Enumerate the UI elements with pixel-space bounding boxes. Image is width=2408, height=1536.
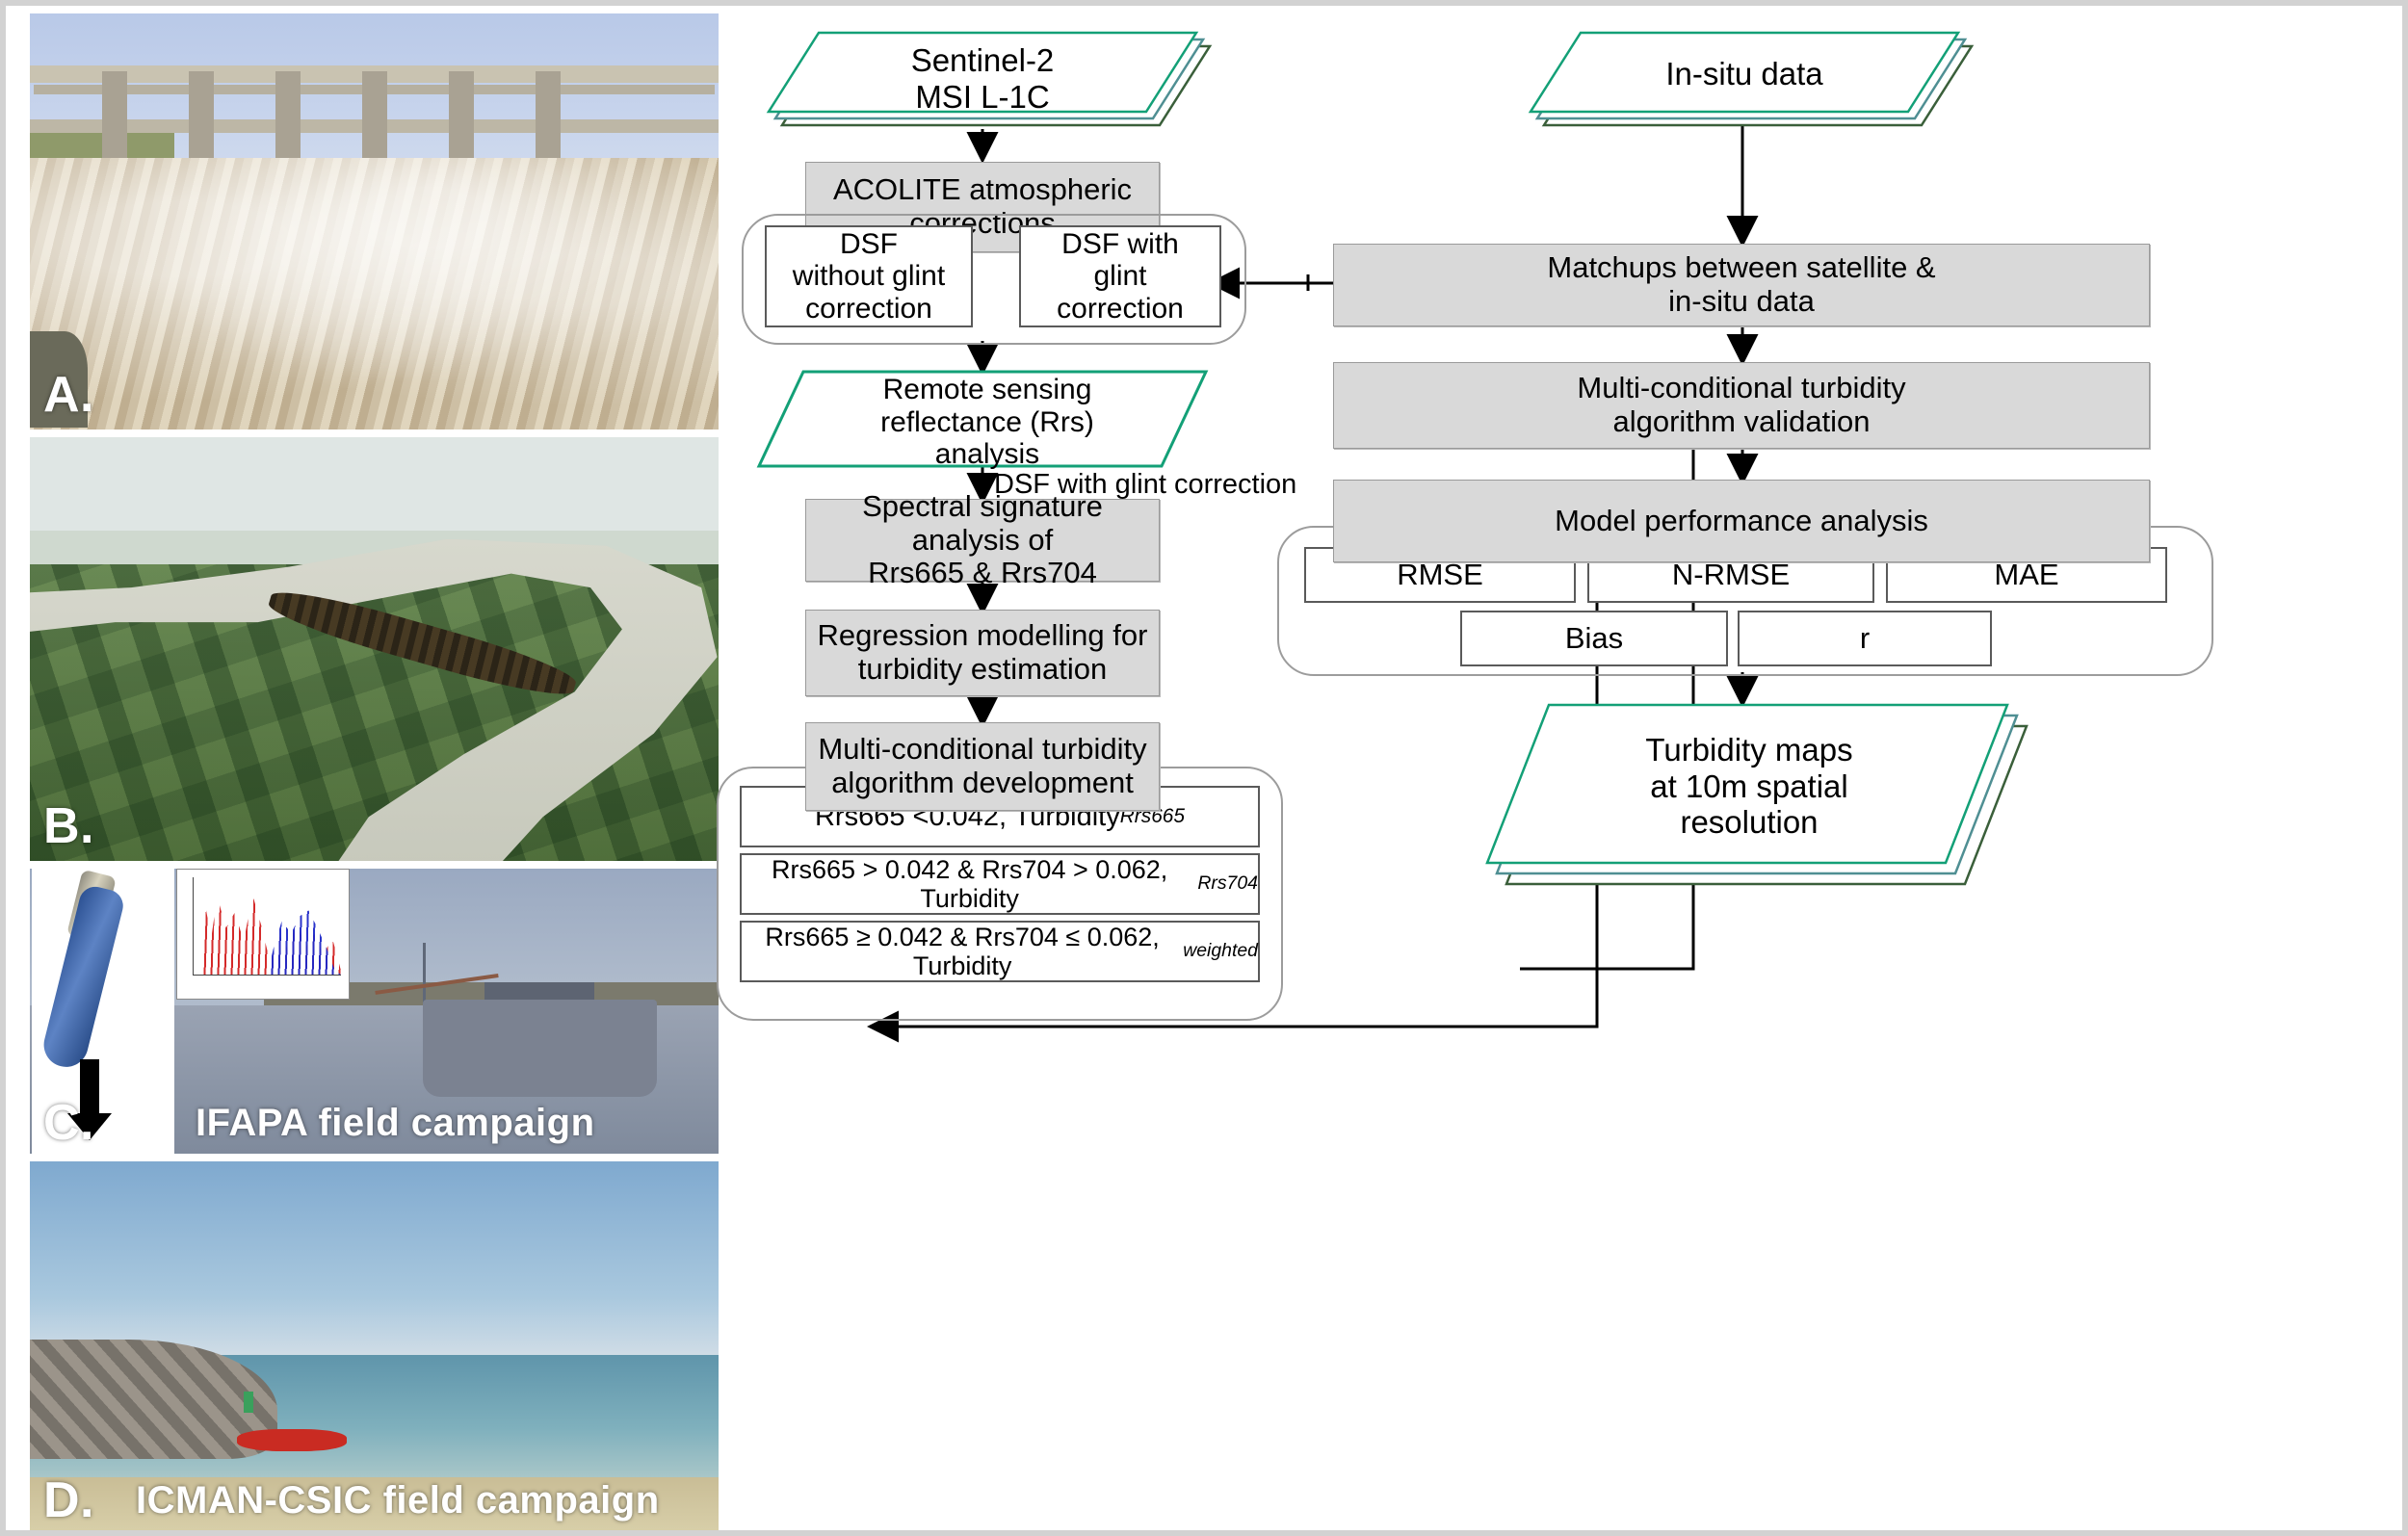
dsf-glint-line-2: glint <box>1093 260 1146 293</box>
photo-panel-column: A. B. C. IFAPA field <box>30 13 719 1533</box>
figure-container: A. B. C. IFAPA field <box>0 0 2408 1536</box>
metric-bias[interactable]: Bias <box>1460 611 1728 666</box>
performance-line-1: Model performance analysis <box>1555 505 1928 538</box>
metric-bias-label: Bias <box>1565 622 1623 656</box>
validation-line-2: algorithm validation <box>1612 405 1870 439</box>
photo-c-caption: IFAPA field campaign <box>196 1104 595 1142</box>
node-remote-sensing-reflectance-analysis[interactable]: Remote sensing reflectance (Rrs) analysi… <box>757 370 1208 468</box>
option-dsf-with-glint-correction[interactable]: DSF with glint correction <box>1019 225 1221 327</box>
sentinel-line-2: MSI L-1C <box>786 79 1179 116</box>
spectral-line-1: Spectral signature analysis of <box>806 490 1159 557</box>
input-insitu-document-stack: In-situ data <box>1523 10 1966 131</box>
acolite-line-1: ACOLITE atmospheric <box>833 173 1132 207</box>
input-sentinel-document-stack: Sentinel-2 MSI L-1C <box>761 10 1204 131</box>
metric-mae-label: MAE <box>1994 559 2058 592</box>
process-multiconditional-algorithm-development[interactable]: Multi-conditional turbidity algorithm de… <box>805 722 1160 811</box>
photo-panel-c: C. IFAPA field campaign <box>30 869 719 1154</box>
metric-r[interactable]: r <box>1738 611 1992 666</box>
workflow-diagram: Sentinel-2 MSI L-1C In-situ data ACOLITE… <box>719 6 2408 1536</box>
process-spectral-signature-analysis[interactable]: Spectral signature analysis of Rrs665 & … <box>805 499 1160 582</box>
rrs-line-3: analysis <box>796 438 1179 471</box>
validation-line-1: Multi-conditional turbidity <box>1577 372 1905 405</box>
dsf-no-glint-line-2: without glint <box>793 260 945 293</box>
option-dsf-without-glint-correction[interactable]: DSF without glint correction <box>765 225 973 327</box>
condition-3-text: Rrs665 ≥ 0.042 & Rrs704 ≤ 0.062, Turbidi… <box>742 923 1183 980</box>
condition-rrs704-high[interactable]: Rrs665 > 0.042 & Rrs704 > 0.062, Turbidi… <box>740 853 1260 915</box>
process-matchups-satellite-insitu[interactable]: Matchups between satellite & in-situ dat… <box>1333 244 2150 326</box>
dsf-no-glint-line-3: correction <box>805 293 932 325</box>
condition-2-text: Rrs665 > 0.042 & Rrs704 > 0.062, Turbidi… <box>742 855 1197 913</box>
photo-d-caption: ICMAN-CSIC field campaign <box>136 1481 660 1520</box>
matchups-line-1: Matchups between satellite & <box>1547 251 1935 285</box>
timeseries-inset-chart <box>176 869 350 1000</box>
dsf-no-glint-line-1: DSF <box>840 228 898 261</box>
maps-line-1: Turbidity maps <box>1528 732 1971 768</box>
development-line-2: algorithm development <box>831 767 1134 800</box>
matchups-line-2: in-situ data <box>1668 285 1815 319</box>
regression-line-1: Regression modelling for <box>818 619 1148 653</box>
insitu-line-1: In-situ data <box>1548 56 1941 92</box>
sentinel-line-1: Sentinel-2 <box>786 42 1179 79</box>
condition-2-subscript: Rrs704 <box>1197 873 1258 895</box>
photo-d-letter: D. <box>43 1475 94 1525</box>
dsf-glint-line-3: correction <box>1057 293 1184 325</box>
regression-line-2: turbidity estimation <box>858 653 1107 687</box>
condition-3-subscript: weighted <box>1183 941 1258 962</box>
photo-panel-a: A. <box>30 13 719 430</box>
metric-rmse-label: RMSE <box>1397 559 1483 592</box>
dsf-glint-line-1: DSF with <box>1061 228 1179 261</box>
photo-c-letter: C. <box>43 1098 94 1148</box>
photo-b-letter: B. <box>43 801 94 851</box>
rrs-line-1: Remote sensing <box>796 374 1179 406</box>
output-turbidity-maps-document-stack: Turbidity maps at 10m spatial resolution <box>1479 701 2019 894</box>
process-model-performance-analysis[interactable]: Model performance analysis <box>1333 480 2150 562</box>
maps-line-3: resolution <box>1528 804 1971 841</box>
photo-panel-d: D. ICMAN-CSIC field campaign <box>30 1161 719 1533</box>
rrs-line-2: reflectance (Rrs) <box>796 406 1179 439</box>
process-regression-modelling[interactable]: Regression modelling for turbidity estim… <box>805 610 1160 696</box>
condition-weighted[interactable]: Rrs665 ≥ 0.042 & Rrs704 ≤ 0.062, Turbidi… <box>740 921 1260 982</box>
photo-panel-b: B. <box>30 437 719 861</box>
maps-line-2: at 10m spatial <box>1528 768 1971 805</box>
photo-a-letter: A. <box>43 370 94 420</box>
process-multiconditional-algorithm-validation[interactable]: Multi-conditional turbidity algorithm va… <box>1333 362 2150 449</box>
metric-r-label: r <box>1860 622 1870 656</box>
spectral-line-2: Rrs665 & Rrs704 <box>868 557 1097 590</box>
metric-n-rmse-label: N-RMSE <box>1672 559 1790 592</box>
development-line-1: Multi-conditional turbidity <box>818 733 1146 767</box>
